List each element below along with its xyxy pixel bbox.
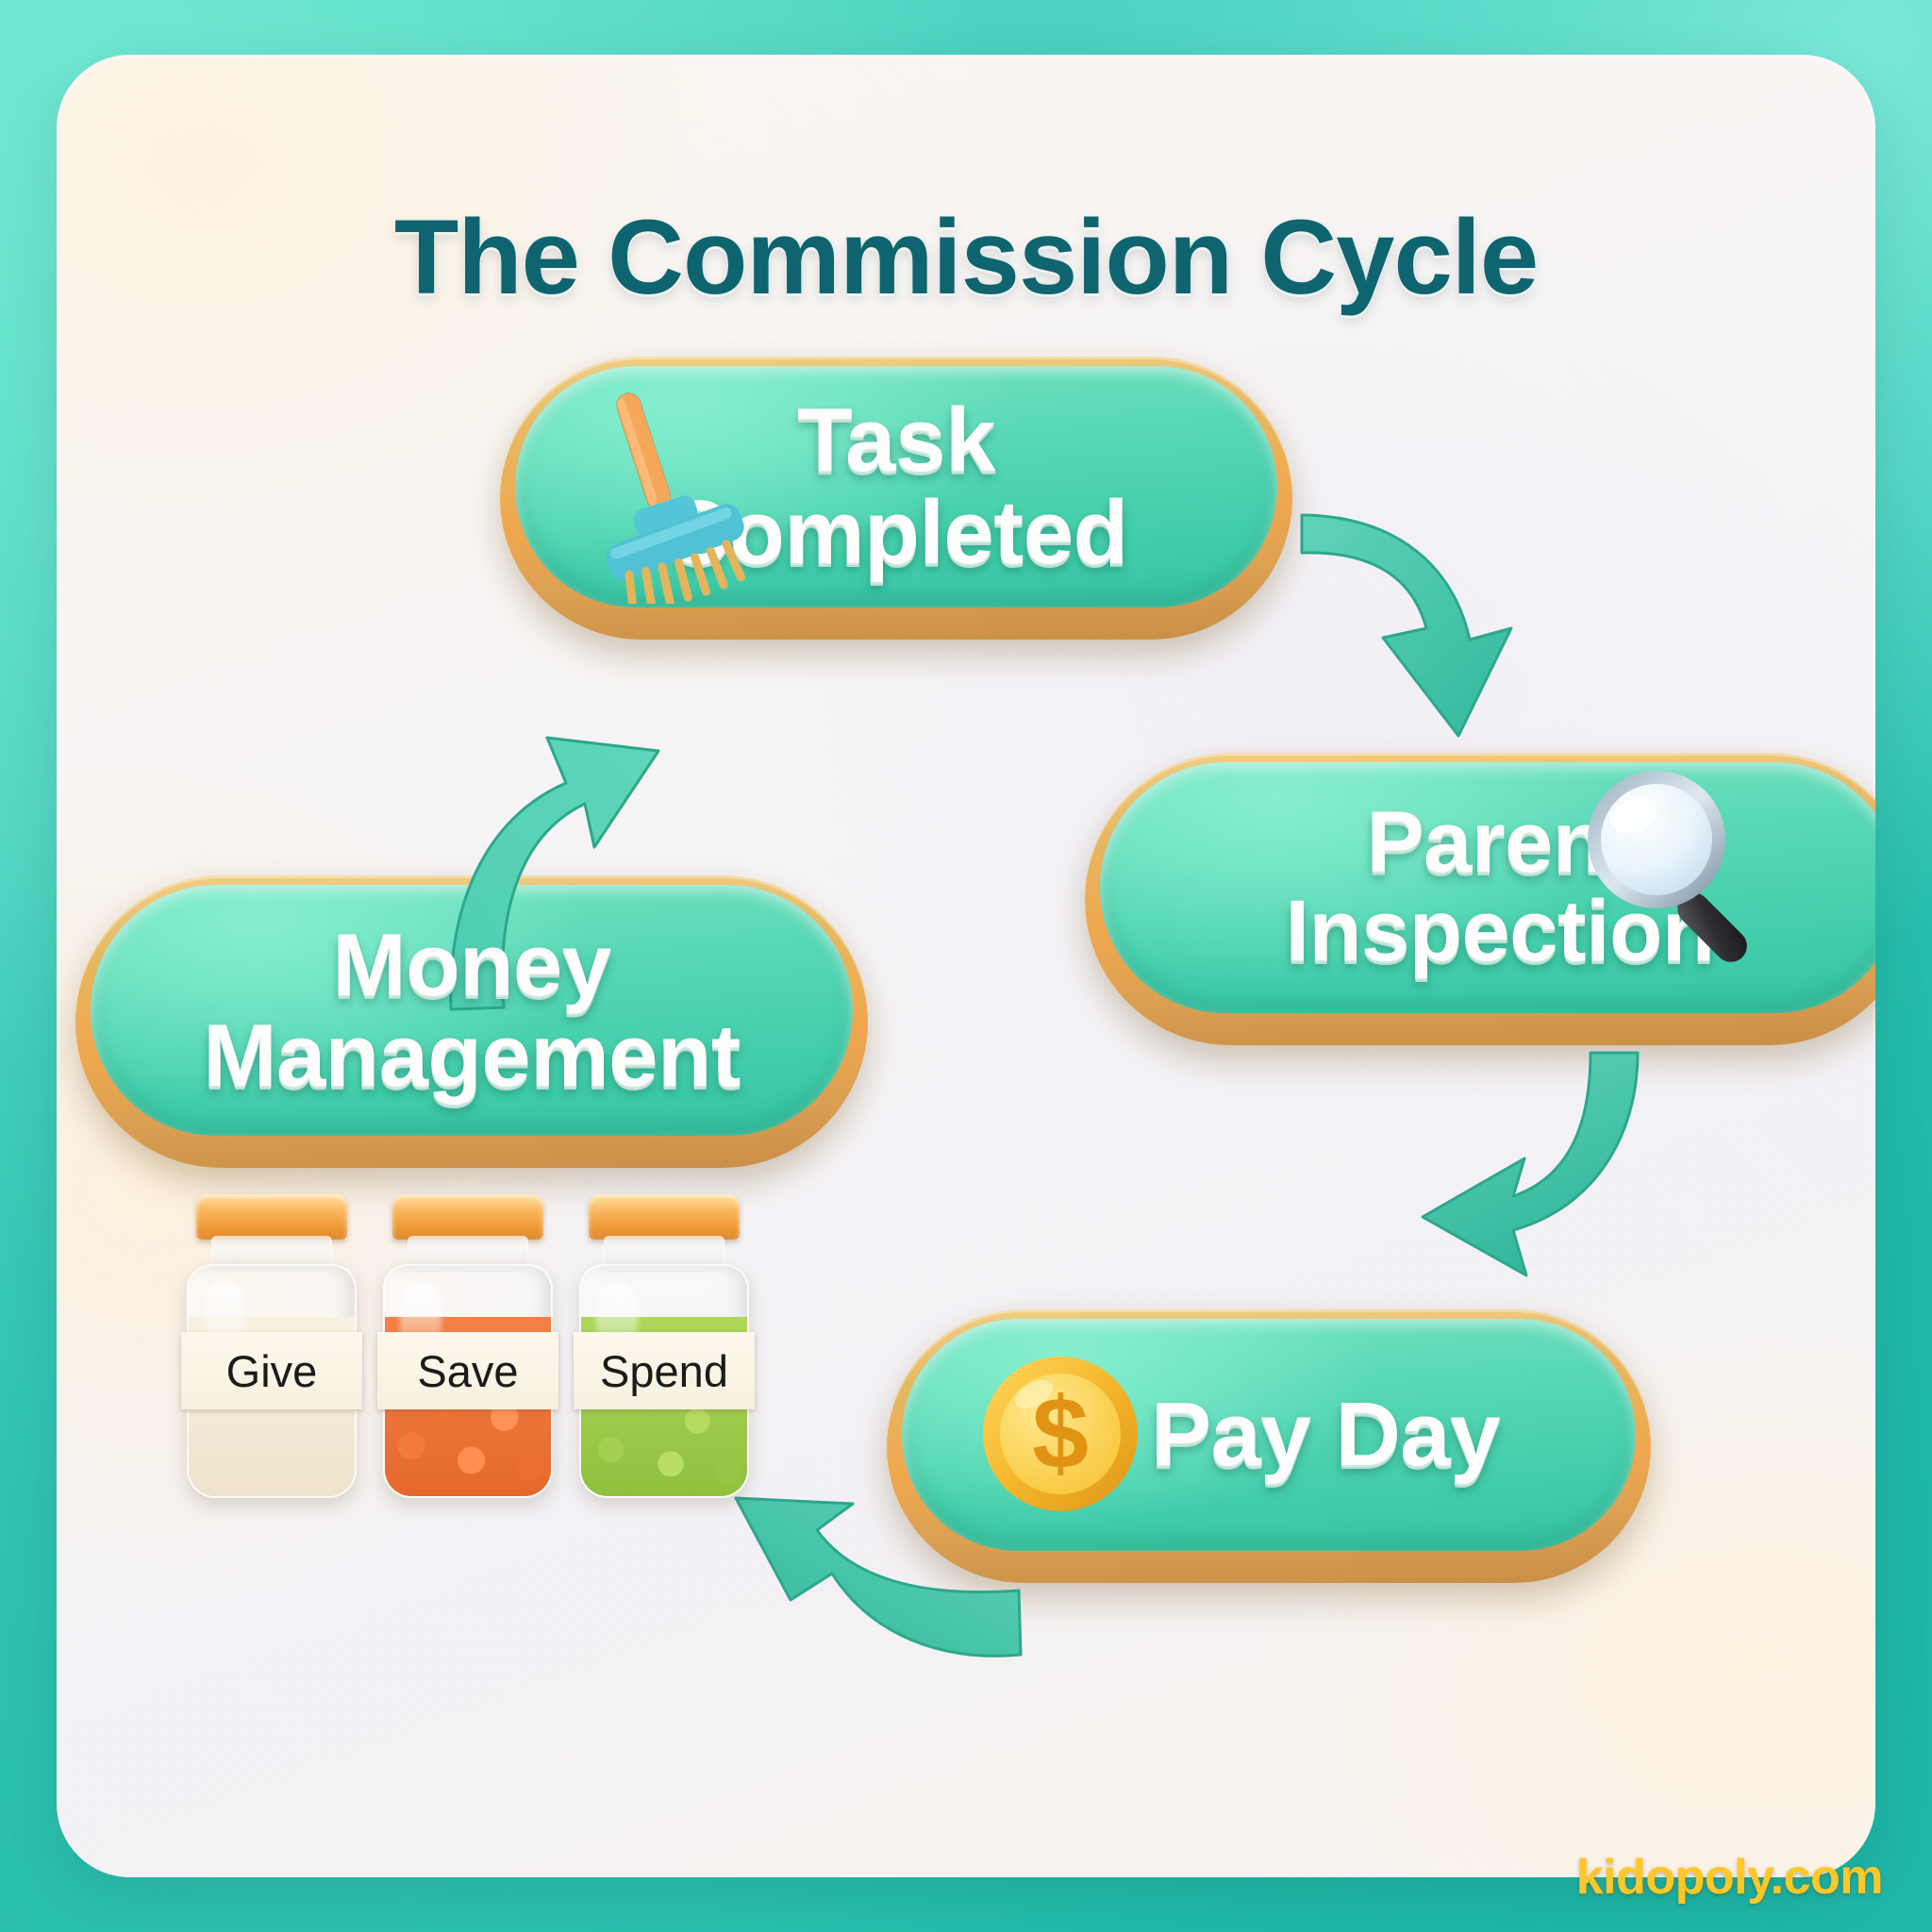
jar-save: Save — [375, 1194, 560, 1506]
jar-label-give: Give — [181, 1332, 362, 1409]
infographic-poster: The Commission Cycle — [0, 0, 1932, 1932]
pill-label-line2: Management — [203, 1010, 741, 1101]
jar-lid — [589, 1194, 740, 1240]
watermark: kidopoly.com — [1576, 1849, 1883, 1906]
jar-lid — [392, 1194, 543, 1240]
money-jars-icon: Give Save Spend — [179, 1194, 764, 1506]
pill-face: Money Management — [91, 885, 853, 1136]
jar-spend: Spend — [572, 1194, 757, 1506]
jar-lid — [196, 1194, 347, 1240]
page-title: The Commission Cycle — [57, 196, 1875, 318]
arrow-task-to-inspection — [1292, 498, 1575, 781]
dollar-coin-icon: $ — [979, 1353, 1141, 1515]
pill-label-line1: Money — [203, 920, 741, 1010]
broom-icon — [547, 387, 755, 604]
pill-label-line1: Pay Day — [1151, 1389, 1500, 1481]
pill-label-money: Money Management — [203, 920, 741, 1101]
jar-label-spend: Spend — [574, 1332, 755, 1409]
arrow-inspection-to-payday — [1415, 1045, 1651, 1347]
magnifier-icon — [1575, 764, 1778, 967]
jar-label-save: Save — [377, 1332, 558, 1409]
infographic-card: The Commission Cycle — [57, 55, 1875, 1877]
step-pill-money-management[interactable]: Money Management — [75, 875, 868, 1168]
jar-give: Give — [179, 1194, 364, 1506]
